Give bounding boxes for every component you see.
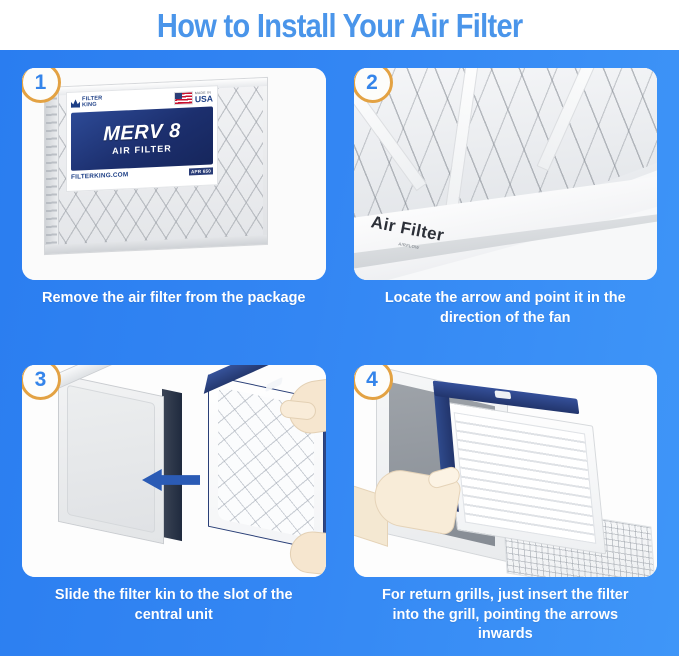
caption-line: For return grills, just insert the filte… — [382, 586, 629, 606]
filter-king-logo: FILTER KING — [71, 96, 102, 109]
page-title: How to Install Your Air Filter — [157, 9, 523, 42]
step-2-caption: Locate the arrow and point it in the dir… — [344, 280, 668, 355]
infographic-root: How to Install Your Air Filter — [0, 0, 679, 656]
step-4: 4 For return grills, just insert the fil… — [344, 355, 668, 652]
caption-line: Slide the filter kin to the slot of the — [55, 586, 293, 606]
brand-line-2: KING — [82, 102, 102, 109]
filter-pleat-ticks — [46, 97, 57, 243]
filter-left-edge — [45, 87, 59, 254]
unit-side-panel — [162, 389, 182, 541]
step-4-caption: For return grills, just insert the filte… — [344, 577, 668, 652]
caption-line: Remove the air filter from the package — [42, 289, 306, 309]
step-3-illustration — [22, 365, 326, 577]
caption-line: inwards — [382, 625, 629, 645]
step-4-card: 4 — [354, 365, 658, 577]
step-1-illustration: FILTER KING MADE IN USA — [22, 68, 326, 280]
label-merv-block: MERV 8 AIR FILTER — [71, 106, 213, 170]
made-in-usa-text: MADE IN USA — [195, 91, 213, 103]
unit-slot-opening — [67, 385, 155, 534]
country-label: USA — [195, 95, 213, 104]
filter-frame-closeup: AIR FLOW Air Filter AIRFLOW — [354, 68, 658, 280]
apr-rating-badge: APR 650 — [189, 167, 213, 175]
steps-grid: FILTER KING MADE IN USA — [0, 50, 679, 656]
product-label: FILTER KING MADE IN USA — [66, 85, 218, 192]
caption-line: into the grill, pointing the arrows — [382, 606, 629, 626]
step-3: 3 Slide the filter kin to the slot of th… — [12, 355, 336, 652]
us-flag-icon — [174, 91, 193, 105]
step-3-card: 3 — [22, 365, 326, 577]
step-4-illustration — [354, 365, 658, 577]
step-1: FILTER KING MADE IN USA — [12, 58, 336, 355]
caption-line: Locate the arrow and point it in the — [385, 289, 626, 309]
step-2: AIR FLOW Air Filter AIRFLOW 2 Locate the… — [344, 58, 668, 355]
air-filter-product-photo: FILTER KING MADE IN USA — [44, 77, 268, 255]
product-type: AIR FILTER — [112, 144, 172, 156]
step-1-card: FILTER KING MADE IN USA — [22, 68, 326, 280]
step-3-caption: Slide the filter kin to the slot of the … — [12, 577, 336, 652]
website-url: FILTERKING.COM — [71, 171, 128, 181]
header-band: How to Install Your Air Filter — [0, 0, 679, 50]
brand-name: FILTER KING — [82, 96, 102, 109]
unit-front-face — [58, 374, 164, 545]
merv-rating: MERV 8 — [103, 121, 180, 145]
made-in-usa-mark: MADE IN USA — [174, 90, 213, 105]
step-2-illustration: AIR FLOW Air Filter AIRFLOW — [354, 68, 658, 280]
caption-line: central unit — [55, 606, 293, 626]
step-2-card: AIR FLOW Air Filter AIRFLOW 2 — [354, 68, 658, 280]
step-1-caption: Remove the air filter from the package — [12, 280, 336, 355]
central-unit-slot — [58, 375, 184, 535]
crown-icon — [71, 98, 80, 107]
caption-line: direction of the fan — [385, 309, 626, 329]
